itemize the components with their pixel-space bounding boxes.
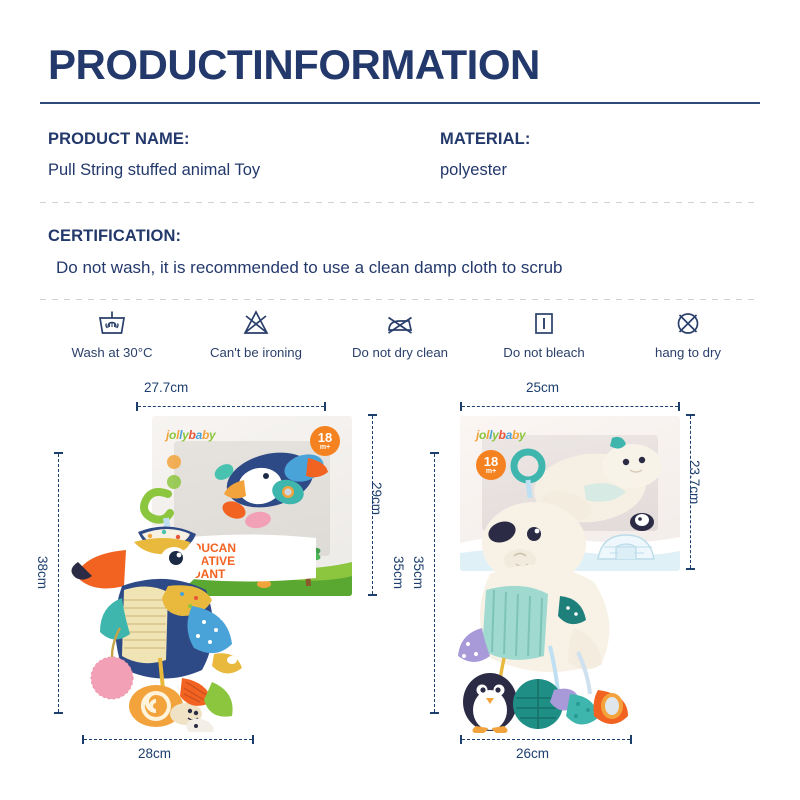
material-value: polyester [440, 161, 507, 180]
dim-label-toucan-plush-width: 28cm [138, 746, 171, 761]
dim-line-toucan-plush-width [82, 735, 254, 744]
age-badge-unit-seal: m+ [486, 468, 496, 475]
divider-1 [40, 202, 760, 203]
circle-crossed-icon [671, 308, 705, 338]
iron-crossed-icon [383, 308, 417, 338]
material-label: MATERIAL: [440, 130, 530, 149]
product-name-label: PRODUCT NAME: [48, 130, 190, 149]
age-badge-toucan: 18 m+ [310, 426, 340, 456]
dim-label-seal-box-width: 25cm [526, 380, 559, 395]
age-badge-number-toucan: 18 [318, 431, 332, 444]
dim-label-toucan-box-height: 29cm [369, 482, 384, 515]
brand-logo-seal: jollybaby [476, 428, 525, 442]
care-item-bleach: Do not bleach [472, 308, 616, 360]
certification-label: CERTIFICATION: [48, 227, 181, 246]
age-badge-number-seal: 18 [484, 455, 498, 468]
dim-label-toucan-plush-height: 38cm [35, 556, 50, 589]
dim-line-seal-overall-height [430, 452, 439, 714]
care-item-dryclean: Do not dry clean [328, 308, 472, 360]
age-badge-seal: 18 m+ [476, 450, 506, 480]
product-block-seal: 25cm 23.7cm 35cm 26cm [408, 378, 782, 778]
dim-label-seal-box-height: 23.7cm [687, 460, 702, 504]
age-badge-unit-toucan: m+ [320, 444, 330, 451]
care-label-wash: Wash at 30°C [71, 345, 152, 360]
product-block-toucan: 27.7cm 29cm 35cm 38cm 28cm [28, 378, 408, 778]
dim-label-seal-overall-height: 35cm [411, 556, 426, 589]
care-instructions-strip: Wash at 30°C Can't be ironing Do not dry… [40, 308, 760, 370]
dim-line-toucan-box-width [136, 402, 326, 411]
divider-2 [40, 299, 760, 300]
care-item-iron: Can't be ironing [184, 308, 328, 360]
care-label-hangdry: hang to dry [655, 345, 721, 360]
plush-toy-seal [442, 478, 662, 733]
triangle-crossed-icon [239, 308, 273, 338]
care-label-iron: Can't be ironing [210, 345, 302, 360]
care-label-bleach: Do not bleach [503, 345, 584, 360]
brand-logo-toucan: jollybaby [166, 428, 215, 442]
page-title: PRODUCTINFORMATION [48, 44, 540, 86]
dim-label-toucan-box-width: 27.7cm [144, 380, 188, 395]
dim-line-toucan-overall-height [394, 414, 403, 642]
plush-toy-toucan [64, 482, 274, 732]
product-name-value: Pull String stuffed animal Toy [48, 161, 260, 180]
hand-wash-basin-icon [95, 308, 129, 338]
care-item-wash: Wash at 30°C [40, 308, 184, 360]
care-item-hangdry: hang to dry [616, 308, 760, 360]
care-label-dryclean: Do not dry clean [352, 345, 448, 360]
dim-label-seal-plush-width: 26cm [516, 746, 549, 761]
square-bar-icon [527, 308, 561, 338]
dim-line-seal-plush-width [460, 735, 632, 744]
certification-value: Do not wash, it is recommended to use a … [56, 258, 562, 278]
dim-label-toucan-overall-height: 35cm [391, 556, 406, 589]
dim-line-toucan-plush-height [54, 452, 63, 714]
dim-line-seal-box-width [460, 402, 680, 411]
title-underline [40, 102, 760, 104]
product-information-page: PRODUCTINFORMATION PRODUCT NAME: MATERIA… [0, 0, 800, 800]
